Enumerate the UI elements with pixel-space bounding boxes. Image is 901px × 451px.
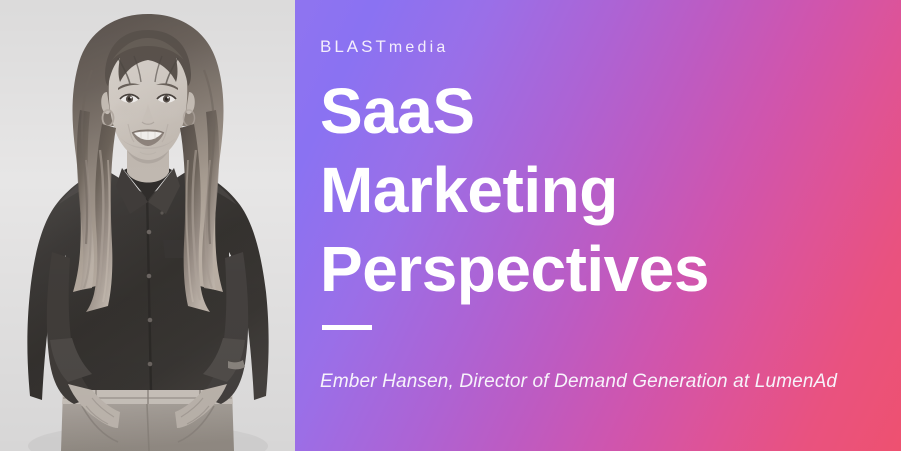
speaker-portrait-image [0, 0, 295, 451]
title-gradient-panel: BLASTmedia SaaS Marketing Perspectives E… [295, 0, 901, 451]
title-divider-rule [322, 325, 372, 330]
speaker-photo-panel [0, 0, 295, 451]
title-line-3: Perspectives [320, 230, 709, 309]
page-title: SaaS Marketing Perspectives [320, 72, 709, 309]
speaker-byline: Ember Hansen, Director of Demand Generat… [320, 371, 837, 393]
title-line-2: Marketing [320, 151, 709, 230]
title-line-1: SaaS [320, 72, 709, 151]
logo-secondary-text: media [389, 39, 449, 56]
blastmedia-logo: BLASTmedia [320, 38, 448, 56]
promo-banner: BLASTmedia SaaS Marketing Perspectives E… [0, 0, 901, 451]
logo-primary-text: BLAST [320, 37, 389, 56]
